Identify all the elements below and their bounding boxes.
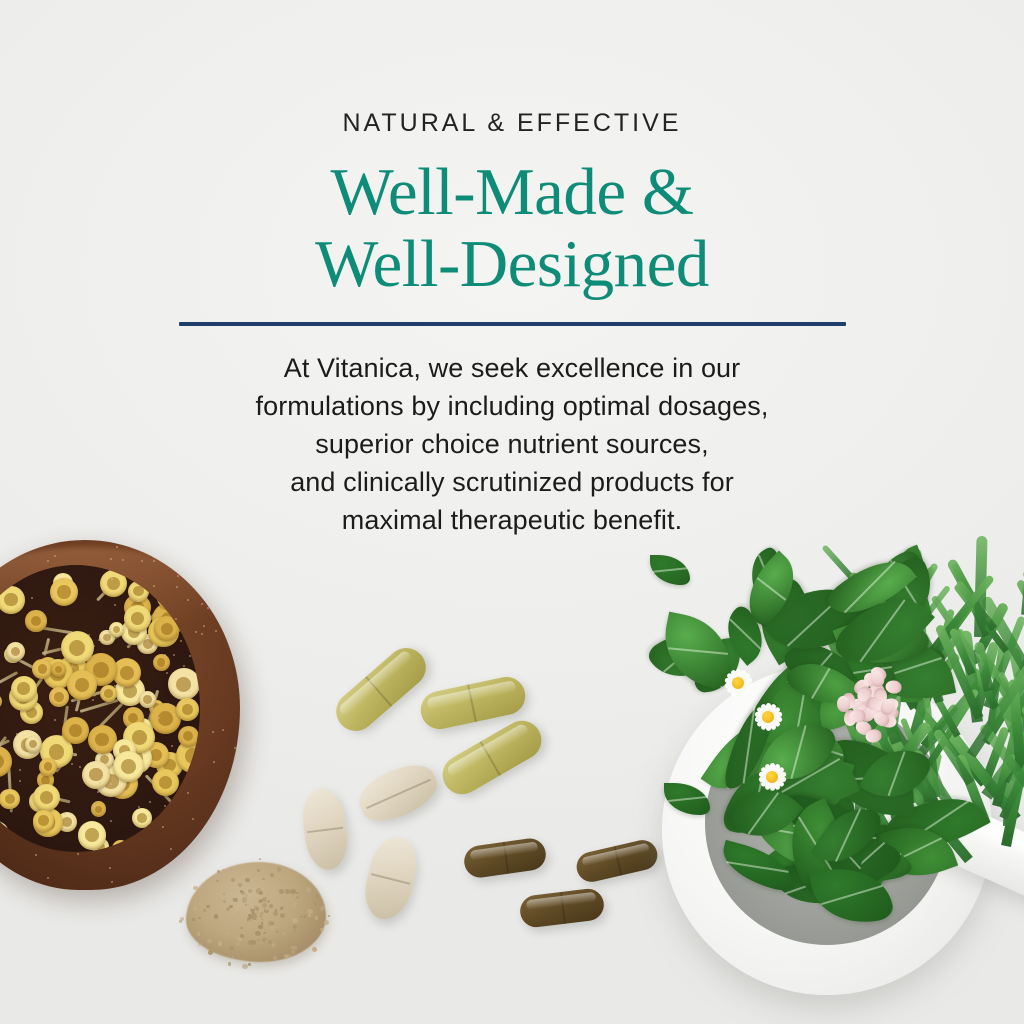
powder-grain <box>236 942 240 946</box>
chamomile-flower <box>78 821 107 850</box>
powder-grain <box>308 914 311 917</box>
powder-grain <box>197 932 200 935</box>
powder-grain <box>273 911 278 916</box>
body-line-5: maximal therapeutic benefit. <box>0 501 1024 539</box>
herbal-powder-photo <box>168 848 348 978</box>
chamomile-flower <box>88 725 117 754</box>
chamomile-flower <box>50 578 79 607</box>
powder-grain <box>255 931 260 936</box>
powder-grain <box>223 873 228 878</box>
powder-grain <box>257 939 259 941</box>
pink-flower-cluster <box>826 661 904 739</box>
powder-grain <box>219 954 221 956</box>
powder-grain <box>270 873 273 876</box>
daisy-flower <box>748 697 788 737</box>
chamomile-flower <box>33 784 60 811</box>
chamomile-flower <box>0 694 2 709</box>
chamomile-flower <box>67 670 97 700</box>
divider-rule <box>179 322 846 326</box>
powder-grain <box>248 963 251 966</box>
powder-grain <box>256 888 261 893</box>
powder-grain <box>272 943 276 947</box>
chamomile-flower <box>109 622 124 637</box>
powder-grain <box>259 858 261 860</box>
chamomile-flower <box>11 676 37 702</box>
chamomile-flower <box>82 761 110 789</box>
supplements-photo <box>290 660 690 960</box>
wooden-bowl <box>0 540 240 890</box>
powder-grain <box>198 902 203 907</box>
chamomile-flower <box>39 758 57 776</box>
powder-grain <box>251 873 256 878</box>
powder-grain <box>229 946 234 951</box>
powder-grain <box>248 940 253 945</box>
powder-grain <box>256 907 260 911</box>
powder-grain <box>233 898 238 903</box>
powder-grain <box>324 920 329 925</box>
bowl-interior <box>0 565 200 852</box>
body-line-3: superior choice nutrient sources, <box>0 425 1024 463</box>
body-line-2: formulations by including optimal dosage… <box>0 387 1024 425</box>
headline-line-1: Well-Made & <box>0 156 1024 228</box>
powder-grain <box>271 922 274 925</box>
powder-grain <box>208 950 213 955</box>
powder-grain <box>218 941 222 945</box>
chamomile-flower <box>132 808 152 828</box>
chamomile-flower <box>124 605 151 632</box>
powder-grain <box>266 899 268 901</box>
powder-grain <box>228 962 232 966</box>
chamomile-flower <box>178 726 199 747</box>
mint-leaf <box>650 555 690 585</box>
chamomile-flower <box>25 736 42 753</box>
chamomile-flower <box>0 789 20 810</box>
chamomile-flower <box>112 840 130 852</box>
brown-capsule <box>518 887 605 929</box>
powder-grain <box>280 907 283 910</box>
chamomile-flower <box>100 570 127 597</box>
powder-grain <box>237 937 241 941</box>
powder-grain <box>293 892 295 894</box>
powder-grain <box>280 913 285 918</box>
chamomile-flower <box>168 668 200 700</box>
body-paragraph: At Vitanica, we seek excellence in our f… <box>0 349 1024 539</box>
powder-grain <box>194 907 197 910</box>
powder-grain <box>270 925 275 930</box>
powder-grain <box>312 947 317 952</box>
powder-grain <box>275 909 277 911</box>
powder-grain <box>303 915 306 918</box>
powder-grain <box>234 936 236 938</box>
powder-grain <box>248 920 250 922</box>
headline-line-2: Well-Designed <box>0 228 1024 300</box>
cream-tablet <box>352 756 444 831</box>
powder-grain <box>222 869 224 871</box>
green-capsule <box>328 640 434 739</box>
powder-grain <box>320 928 323 931</box>
powder-grain <box>223 921 226 924</box>
text-block: NATURAL & EFFECTIVE Well-Made & Well-Des… <box>0 0 1024 539</box>
powder-grain <box>229 905 232 908</box>
powder-grain <box>294 930 296 932</box>
cream-tablet <box>359 832 424 925</box>
chamomile-flower <box>91 801 107 817</box>
chamomile-flower <box>0 586 25 614</box>
chamomile-flower <box>152 769 179 796</box>
powder-grain <box>266 892 270 896</box>
chamomile-flower <box>100 685 117 702</box>
powder-grain <box>203 909 206 912</box>
page-title: Well-Made & Well-Designed <box>0 156 1024 300</box>
powder-grain <box>193 886 197 890</box>
powder-grain <box>328 915 330 917</box>
powder-grain <box>242 964 247 969</box>
powder-grain <box>198 943 202 947</box>
chamomile-flower <box>113 751 144 782</box>
brown-capsule <box>462 836 548 879</box>
powder-grain <box>247 903 250 906</box>
powder-grain <box>192 918 195 921</box>
powder-grain <box>206 905 209 908</box>
body-line-1: At Vitanica, we seek excellence in our <box>0 349 1024 387</box>
chamomile-flower <box>33 810 55 832</box>
powder-grain <box>279 889 284 894</box>
powder-grain <box>233 866 237 870</box>
powder-grain <box>315 894 319 898</box>
promo-banner: NATURAL & EFFECTIVE Well-Made & Well-Des… <box>0 0 1024 1024</box>
powder-grain <box>300 916 302 918</box>
powder-grain <box>264 915 269 920</box>
eyebrow-label: NATURAL & EFFECTIVE <box>0 108 1024 138</box>
powder-grain <box>269 904 273 908</box>
powder-grain <box>214 914 218 918</box>
daisy-center <box>732 677 744 689</box>
powder-grain <box>253 901 255 903</box>
chamomile-flower <box>62 717 89 744</box>
chamomile-flower <box>6 642 26 662</box>
powder-grain <box>262 878 264 880</box>
powder-grain <box>207 939 211 943</box>
powder-grain <box>277 867 282 872</box>
powder-grain <box>248 889 252 893</box>
chamomile-flower <box>49 687 69 707</box>
powder-grain <box>289 899 292 902</box>
powder-grain <box>292 918 297 923</box>
powder-grain <box>229 916 234 921</box>
powder-grain <box>257 869 260 872</box>
powder-grain <box>236 911 240 915</box>
powder-grain <box>241 891 245 895</box>
chamomile-flower <box>0 821 9 847</box>
mortar-and-herbs-photo <box>640 545 1024 1024</box>
chamomile-flower <box>153 654 170 671</box>
daisy-center <box>766 771 778 783</box>
daisy-center <box>762 711 774 723</box>
powder-grain <box>179 920 182 923</box>
body-line-4: and clinically scrutinized products for <box>0 463 1024 501</box>
powder-grain <box>217 897 222 902</box>
